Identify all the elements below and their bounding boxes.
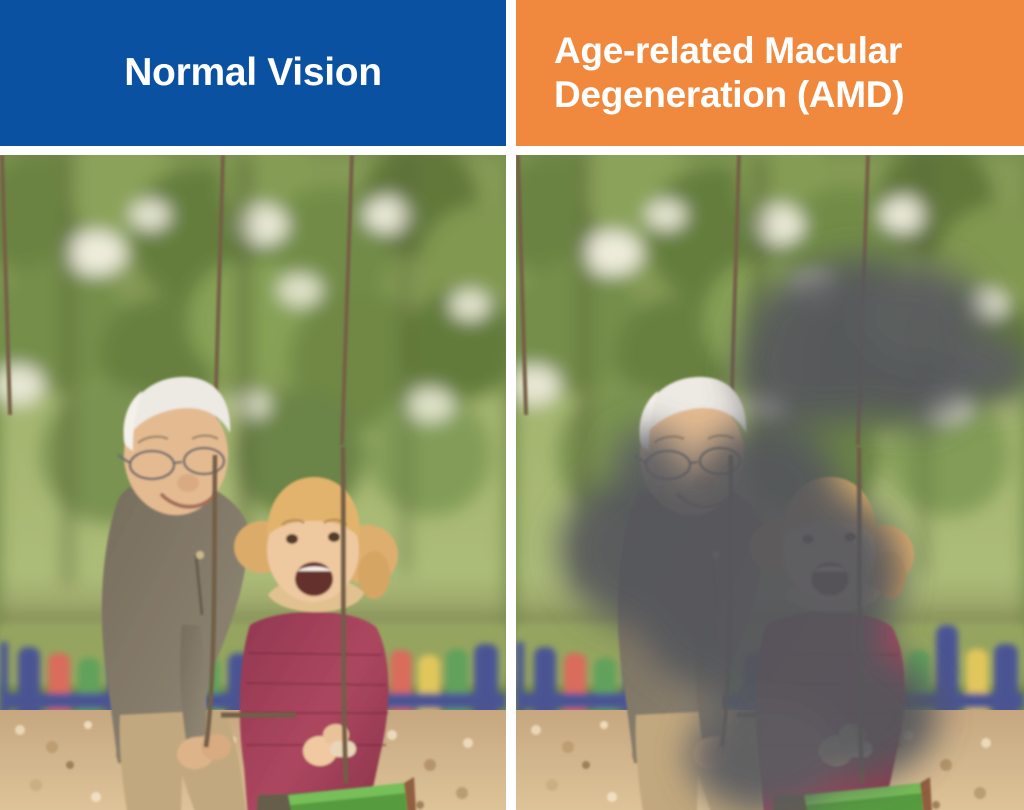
vision-comparison-graphic: Normal Vision Age-related Macular Degene… [0,0,1024,810]
panel-gutter [506,0,516,810]
amd-vision-scene [516,155,1024,810]
amd-vision-photo [516,155,1024,810]
normal-vision-header: Normal Vision [0,0,506,146]
right-header-gutter [516,146,1024,155]
amd-title: Age-related Macular Degeneration (AMD) [554,29,904,116]
normal-vision-title: Normal Vision [124,53,382,94]
amd-title-line-1: Age-related Macular [554,29,904,73]
left-header-gutter [0,146,506,155]
amd-header: Age-related Macular Degeneration (AMD) [516,0,1024,146]
amd-title-line-2: Degeneration (AMD) [554,73,904,117]
normal-vision-scene [0,155,506,810]
normal-vision-photo [0,155,506,810]
